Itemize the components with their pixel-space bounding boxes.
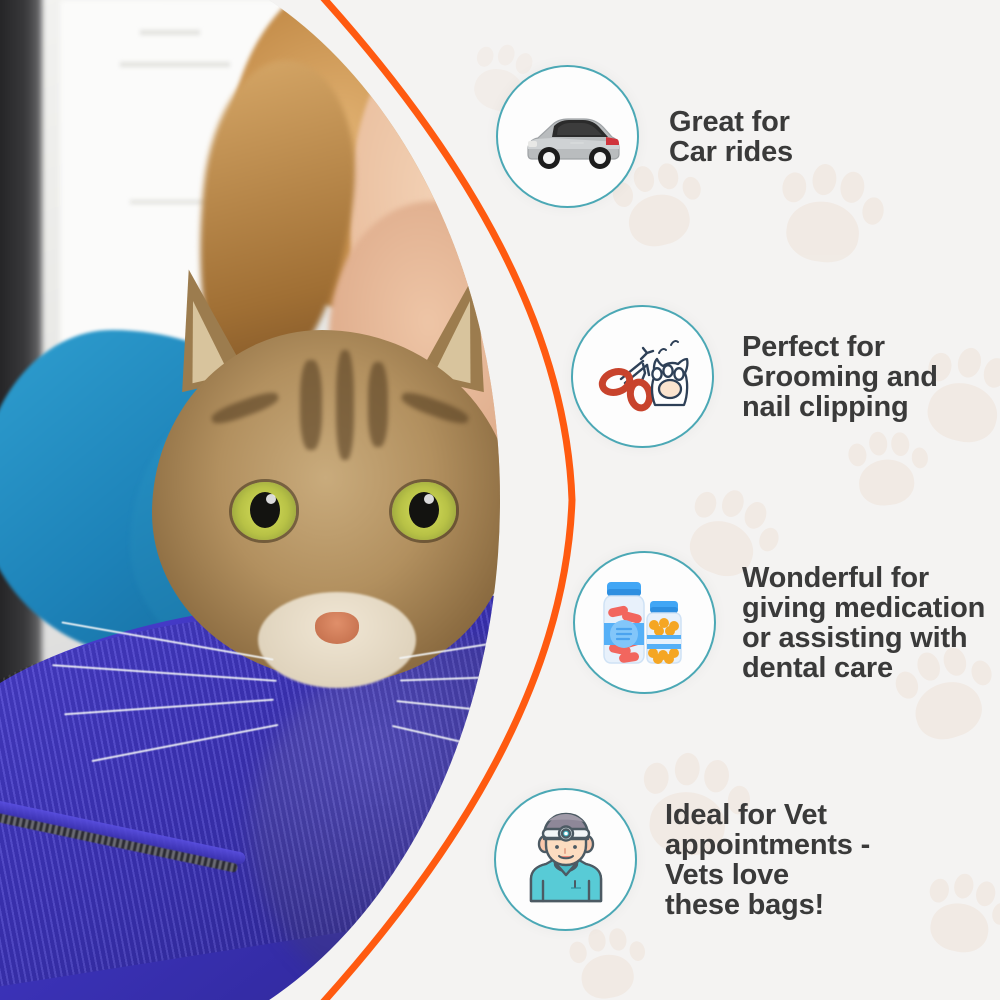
feature-item-grooming[interactable]: Perfect for Grooming and nail clipping [571,305,938,448]
feature-icon-circle [496,65,639,208]
feature-icon-circle [573,551,716,694]
feature-item-vet-appointments[interactable]: Ideal for Vet appointments - Vets love t… [494,788,870,931]
feature-item-car-rides[interactable]: Great for Car rides [496,65,793,208]
infographic-canvas: Great for Car rides [0,0,1000,1000]
veterinarian-icon [515,809,617,911]
feature-icon-circle [571,305,714,448]
feature-icon-circle [494,788,637,931]
feature-text: Great for Car rides [669,107,793,167]
feature-text: Perfect for Grooming and nail clipping [742,332,938,422]
feature-item-medication[interactable]: Wonderful for giving medication or assis… [573,551,985,694]
feature-text: Ideal for Vet appointments - Vets love t… [665,800,870,920]
nail-clippers-paw-icon [593,327,693,427]
pill-bottles-icon [593,571,697,675]
car-icon [516,85,620,189]
feature-list: Great for Car rides [0,0,1000,1000]
feature-text: Wonderful for giving medication or assis… [742,563,985,683]
